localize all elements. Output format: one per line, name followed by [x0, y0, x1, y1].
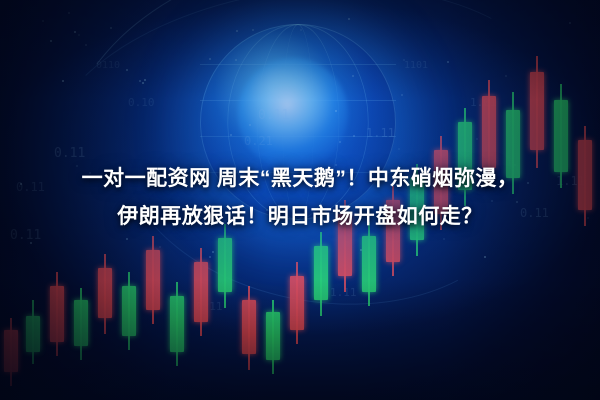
headline: 一对一配资网 周末“黑天鹅”！中东硝烟弥漫， 伊朗再放狠话！明日市场开盘如何走？	[0, 160, 600, 236]
cover-image: 0.110.211.110.110.110.111.110.111.010.10…	[0, 0, 600, 400]
headline-line-2: 伊朗再放狠话！明日市场开盘如何走？	[0, 198, 600, 236]
headline-line-1: 一对一配资网 周末“黑天鹅”！中东硝烟弥漫，	[0, 160, 600, 198]
